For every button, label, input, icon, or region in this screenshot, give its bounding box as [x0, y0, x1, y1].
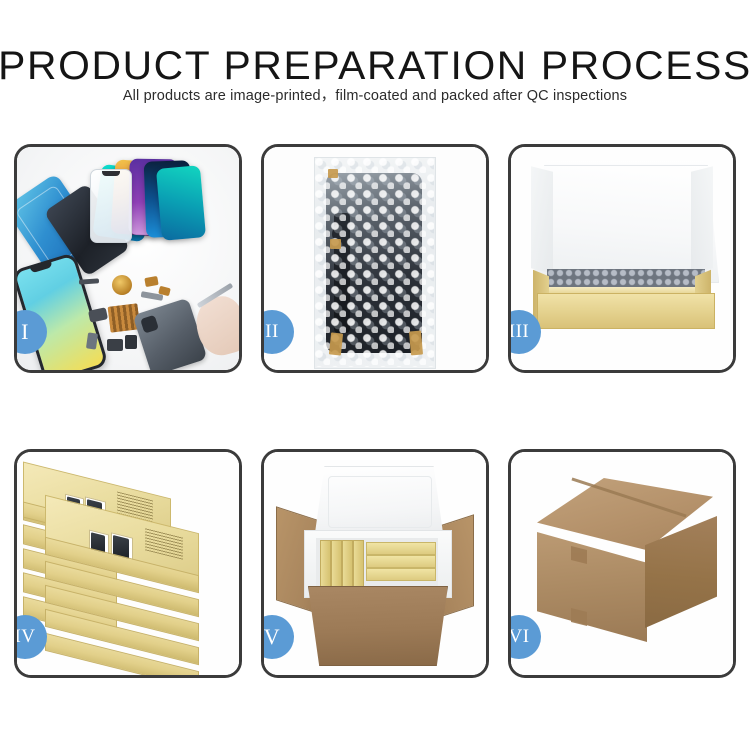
- tape-piece-1: [328, 169, 338, 178]
- infographic-sheet: PRODUCT PREPARATION PROCESS All products…: [0, 0, 750, 750]
- tape-piece-4: [409, 331, 423, 356]
- step-1-badge: I: [3, 310, 47, 354]
- carton-front-panel: [308, 586, 448, 666]
- small-part-5: [125, 335, 137, 349]
- step-5-badge: V: [250, 615, 294, 659]
- small-part-1: [79, 278, 99, 284]
- tape-piece-3: [329, 332, 343, 355]
- inner-box-v1: [320, 540, 331, 588]
- process-step-3[interactable]: III: [508, 144, 736, 373]
- phone-screen-5: [156, 165, 206, 241]
- speaker-coil-part: [112, 275, 132, 295]
- process-step-grid: I II: [14, 144, 736, 678]
- step-3-badge: III: [497, 310, 541, 354]
- process-step-4[interactable]: Mobile Phone Spare Parts Mobile Phone Sp…: [14, 449, 242, 678]
- inner-box-h3: [366, 568, 436, 581]
- inner-box-h2: [366, 555, 436, 568]
- process-step-6[interactable]: VI: [508, 449, 736, 678]
- small-part-2: [88, 307, 108, 322]
- process-step-1[interactable]: I: [14, 144, 242, 373]
- step-3-image: [511, 147, 733, 370]
- carton-front-face: [537, 532, 647, 642]
- process-step-2[interactable]: II: [261, 144, 489, 373]
- step-1-image: [17, 147, 239, 370]
- foam-lid: [314, 466, 444, 540]
- step-2-badge: II: [250, 310, 294, 354]
- inner-box-v3: [342, 540, 353, 588]
- inner-box-h1: [366, 542, 436, 555]
- page-title: PRODUCT PREPARATION PROCESS: [0, 46, 750, 86]
- process-step-5[interactable]: V: [261, 449, 489, 678]
- box-lid-fold-left: [531, 166, 553, 273]
- step-4-badge: IV: [3, 615, 47, 659]
- inner-box-v2: [331, 540, 342, 588]
- tempered-glass-plate: [90, 169, 132, 243]
- step-6-badge: VI: [497, 615, 541, 659]
- phone-back-housing: [133, 298, 208, 370]
- box-front-panel: [537, 293, 715, 329]
- step-4-image: Mobile Phone Spare Parts Mobile Phone Sp…: [17, 452, 239, 675]
- step-2-image: [264, 147, 486, 370]
- step-6-image: [511, 452, 733, 675]
- page-subtitle: All products are image-printed，film-coat…: [0, 88, 750, 105]
- carton-flap-tab-2: [571, 608, 587, 626]
- box-lid-fold-right: [691, 166, 713, 273]
- tape-piece-2: [330, 239, 341, 249]
- connector-chip-1: [144, 276, 158, 287]
- step-5-image: [264, 452, 486, 675]
- inner-box-v4: [353, 540, 364, 588]
- small-part-4: [107, 339, 123, 351]
